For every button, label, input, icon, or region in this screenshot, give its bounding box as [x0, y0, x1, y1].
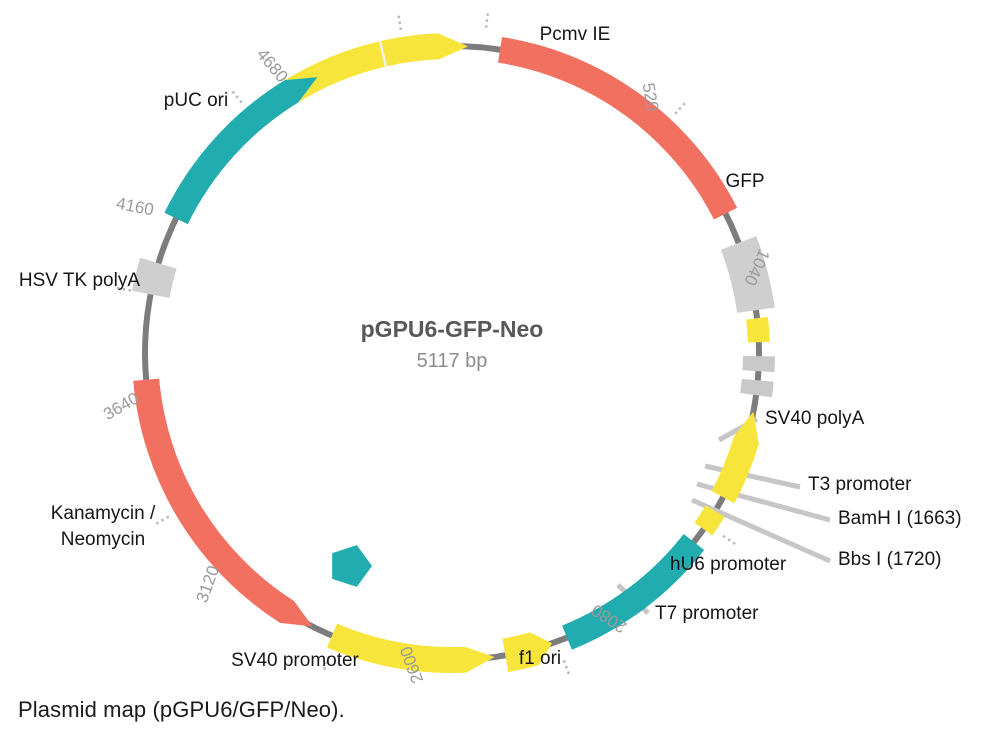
tick-label-3120: 3120: [192, 563, 223, 605]
feature-band-kanamycin-neomycin[interactable]: [133, 379, 312, 627]
feature-pentagon-teal-pentagon-marker[interactable]: [332, 545, 372, 587]
label-sv40-polya: SV40 polyA: [765, 408, 865, 429]
plasmid-map: 5201040208026003120364041604680 Pcmv IEG…: [0, 0, 982, 690]
label-puc-ori: pUC ori: [164, 90, 228, 111]
center-annotation: pGPU6-GFP-Neo 5117 bp: [361, 316, 544, 372]
feature-hu6-promoter[interactable]: [712, 412, 759, 504]
feature-teal-pentagon-marker[interactable]: [332, 545, 372, 587]
restriction-site-bamhi-site[interactable]: [742, 356, 774, 372]
feature-band-f1-ori[interactable]: [562, 534, 704, 650]
tick-mark-520: [486, 10, 488, 28]
feature-block-t3-promoter[interactable]: [746, 317, 770, 343]
feature-bbsi-site[interactable]: [740, 379, 773, 398]
plasmid-size: 5117 bp: [417, 350, 488, 372]
label-bbsi-site: Bbs I (1720): [838, 549, 942, 570]
label-gfp: GFP: [725, 171, 764, 192]
feature-t3-promoter[interactable]: [746, 317, 770, 343]
tick-mark-2080: [723, 536, 738, 546]
label-hu6-promoter: hU6 promoter: [670, 554, 787, 575]
label-sv40-promoter: SV40 promoter: [231, 650, 359, 671]
figure-caption: Plasmid map (pGPU6/GFP/Neo).: [18, 697, 345, 723]
label-hsv-tk-polya: HSV TK polyA: [19, 270, 140, 291]
tick-mark-2600: [564, 660, 570, 677]
label-t7-promoter: T7 promoter: [655, 603, 759, 624]
feature-labels-layer: Pcmv IEGFPSV40 polyAT3 promoterBamH I (1…: [19, 24, 962, 671]
tick-mark-1040: [675, 101, 687, 114]
restriction-site-bbsi-site[interactable]: [740, 379, 773, 398]
label-kanamycin-neomycin: Kanamycin /Neomycin: [51, 503, 156, 550]
label-t3-promoter: T3 promoter: [808, 474, 912, 495]
label-f1-ori: f1 ori: [519, 648, 561, 669]
tick-mark-origin: [398, 12, 401, 30]
feature-bamhi-site[interactable]: [742, 356, 774, 372]
tick-mark-3640: [153, 517, 169, 526]
feature-band-gfp[interactable]: [498, 37, 737, 220]
label-bamhi-site: BamH I (1663): [838, 508, 962, 529]
tick-label-4160: 4160: [115, 194, 156, 220]
plasmid-diagram: 5201040208026003120364041604680 Pcmv IEG…: [0, 0, 982, 690]
plasmid-name: pGPU6-GFP-Neo: [361, 316, 544, 342]
feature-band-hu6-promoter[interactable]: [712, 412, 759, 504]
feature-gfp[interactable]: [498, 37, 737, 220]
feature-kanamycin-neomycin[interactable]: [133, 379, 312, 627]
label-pcmv-ie: Pcmv IE: [540, 24, 611, 45]
tick-mark-4680: [230, 89, 242, 103]
feature-f1-ori[interactable]: [562, 534, 704, 650]
